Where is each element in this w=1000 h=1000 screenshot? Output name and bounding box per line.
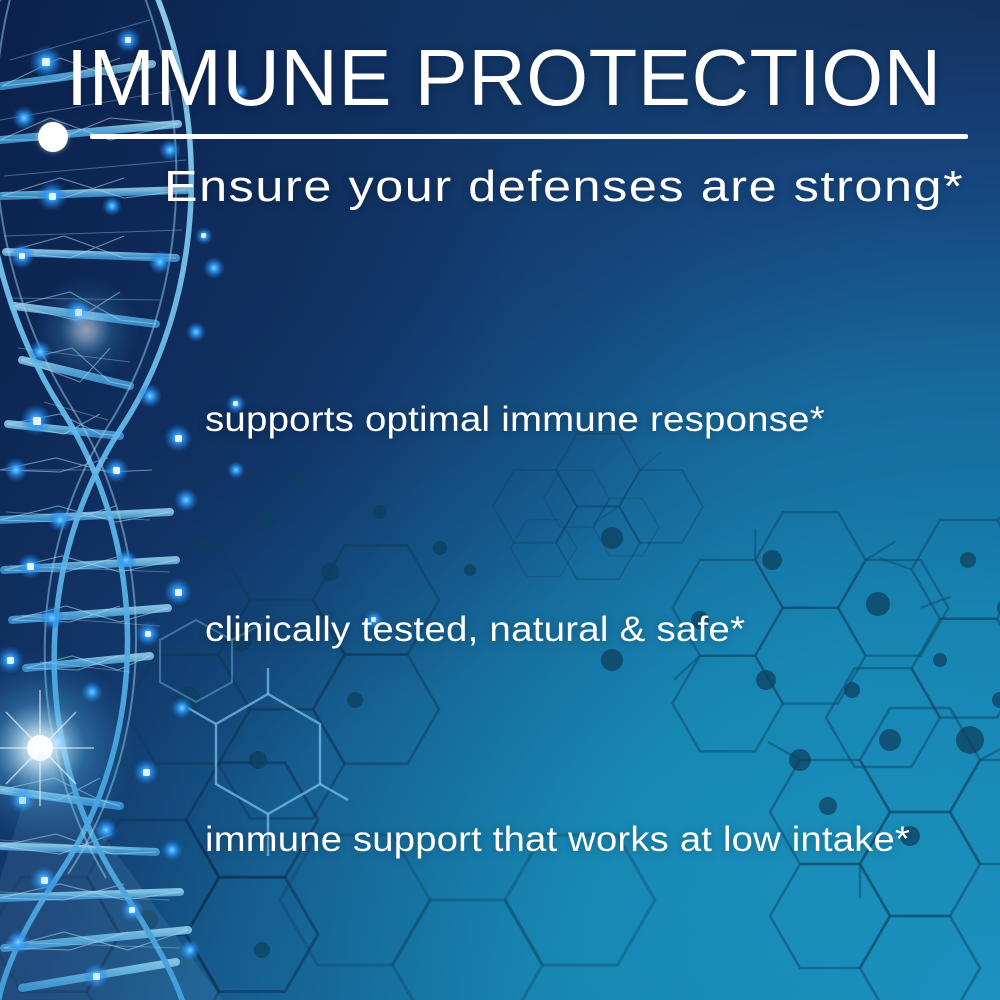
page-subtitle: Ensure your defenses are strong*	[0, 160, 1000, 214]
immune-protection-banner: IMMUNE PROTECTION Ensure your defenses a…	[0, 0, 1000, 1000]
divider	[38, 122, 968, 152]
benefit-item-1: supports optimal immune response*	[205, 400, 770, 440]
page-title: IMMUNE PROTECTION	[66, 38, 966, 118]
banner-content: IMMUNE PROTECTION Ensure your defenses a…	[0, 0, 1000, 1000]
benefit-item-3: immune support that works at low intake*	[205, 820, 851, 860]
divider-dot-icon	[38, 122, 68, 152]
divider-line	[90, 134, 968, 139]
benefit-item-2: clinically tested, natural & safe*	[205, 610, 696, 650]
